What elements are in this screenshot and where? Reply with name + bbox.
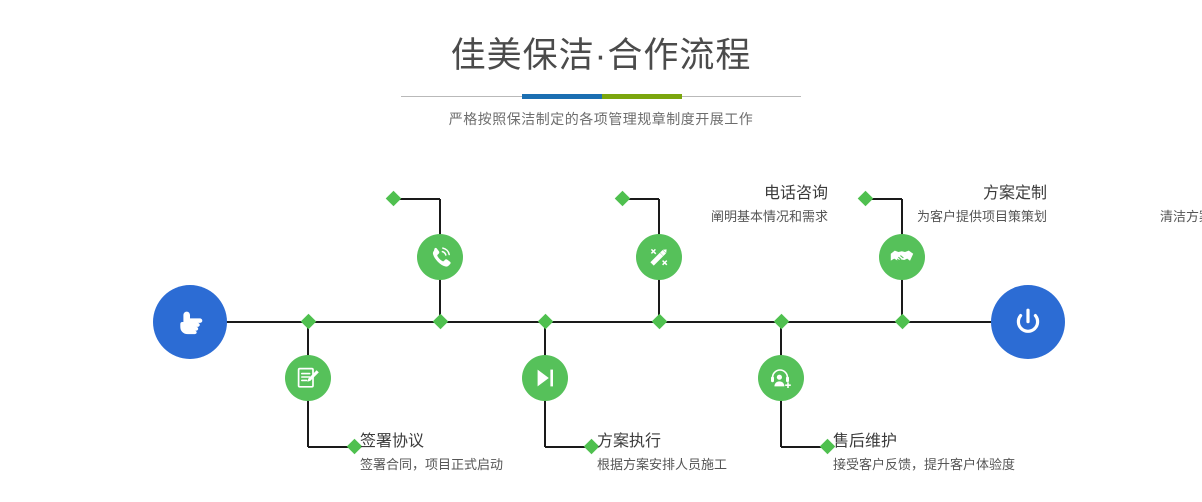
axis-node-marker [301,314,317,330]
support-agent-icon [768,365,794,391]
step-icon-badge[interactable] [758,355,804,401]
axis-node-marker [652,314,668,330]
page-subtitle: 严格按照保洁制定的各项管理规章制度开展工作 [0,108,1202,130]
step-description: 根据方案安排人员施工 [597,455,727,474]
step-icon-badge[interactable] [879,234,925,280]
step-description: 接受客户反馈，提升客户体验度 [833,455,1015,474]
step-title: 方案执行 [597,432,727,452]
divider-segment-green [602,94,682,99]
step-labels: 签署协议 签署合同，项目正式启动 [360,432,503,474]
document-edit-icon [295,365,321,391]
step-labels: 方案执行 根据方案安排人员施工 [597,432,727,474]
process-flow-diagram: 签署协议 签署合同，项目正式启动 电话咨询 阐明基本情况和需求 [0,150,1202,502]
pointing-hand-icon [170,302,210,342]
step-title: 售后维护 [833,432,1015,452]
pencil-design-icon [646,244,672,270]
title-divider [401,96,801,97]
step-icon-badge[interactable] [522,355,568,401]
flow-end-endpoint [991,285,1065,359]
axis-node-marker [774,314,790,330]
step-icon-badge[interactable] [285,355,331,401]
step-labels: 确立合作 清洁方案通过客户评估 [850,184,1202,226]
step-title: 签署协议 [360,432,503,452]
handshake-icon [889,244,915,270]
play-skip-icon [532,365,558,391]
flow-start-endpoint [153,285,227,359]
page-title: 佳美保洁·合作流程 [0,34,1202,78]
step-icon-badge[interactable] [417,234,463,280]
power-icon [1008,302,1048,342]
page-header: 佳美保洁·合作流程 严格按照保洁制定的各项管理规章制度开展工作 [0,0,1202,150]
divider-segment-blue [522,94,602,99]
step-title: 确立合作 [850,184,1202,204]
axis-node-marker [433,314,449,330]
axis-node-marker [538,314,554,330]
step-description: 清洁方案通过客户评估 [850,207,1202,226]
step-icon-badge[interactable] [636,234,682,280]
step-description: 签署合同，项目正式启动 [360,455,503,474]
phone-call-icon [427,244,453,270]
step-labels: 售后维护 接受客户反馈，提升客户体验度 [833,432,1015,474]
axis-node-marker [895,314,911,330]
